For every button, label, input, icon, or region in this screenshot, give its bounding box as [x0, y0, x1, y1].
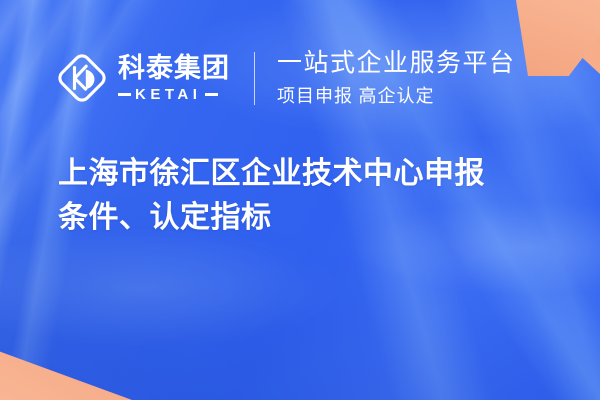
ketai-diamond-kd-mark-icon	[56, 52, 108, 104]
promo-banner: 科泰集团 KETAI 一站式企业服务平台 项目申报 高企认定 上海市徐汇区企业技…	[0, 0, 600, 400]
page-title: 上海市徐汇区企业技术中心申报 条件、认定指标	[58, 152, 554, 240]
brand-slogan: 一站式企业服务平台 项目申报 高企认定	[277, 49, 516, 108]
brand-logo: 科泰集团 KETAI	[56, 52, 230, 104]
slogan-secondary: 项目申报 高企认定	[277, 82, 516, 108]
wordmark-rule-right	[205, 93, 218, 96]
page-title-line-2: 条件、认定指标	[58, 196, 554, 240]
header-divider	[254, 52, 255, 105]
brand-name-en-row: KETAI	[118, 87, 230, 102]
brand-name-cn: 科泰集团	[118, 55, 230, 82]
page-title-line-1: 上海市徐汇区企业技术中心申报	[58, 152, 554, 196]
banner-header: 科泰集团 KETAI 一站式企业服务平台 项目申报 高企认定	[56, 44, 516, 112]
brand-name-en: KETAI	[135, 87, 201, 102]
brand-wordmark: 科泰集团 KETAI	[118, 55, 230, 102]
wordmark-rule-left	[118, 93, 131, 96]
slogan-primary: 一站式企业服务平台	[277, 49, 516, 77]
